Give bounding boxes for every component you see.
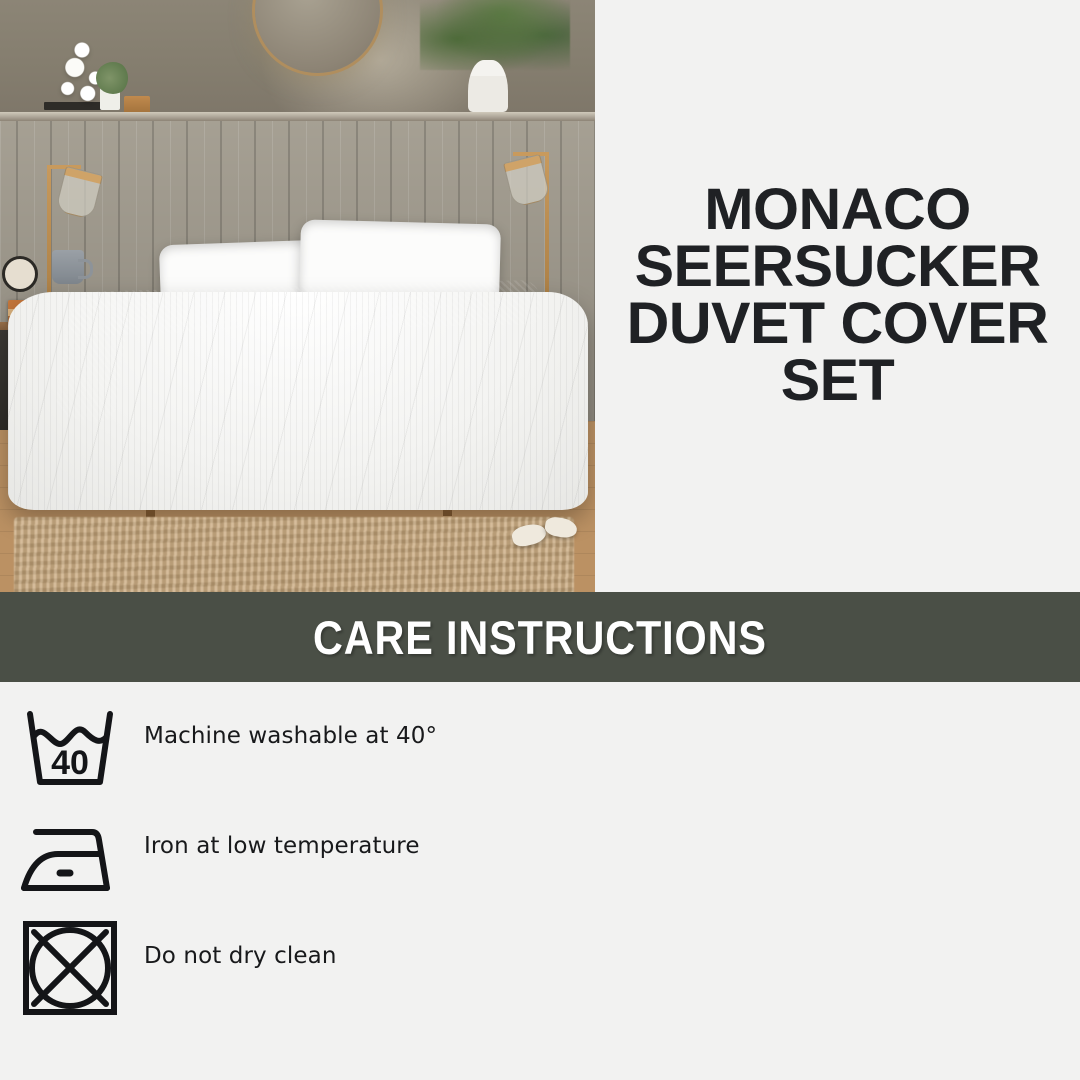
title-panel: MONACO SEERSUCKER DUVET COVER SET xyxy=(595,0,1080,592)
care-label-iron-low: Iron at low temperature xyxy=(144,810,420,861)
care-instructions-banner: CARE INSTRUCTIONS xyxy=(0,592,1080,682)
care-item-do-not-dry-clean: Do not dry clean xyxy=(0,920,545,1045)
wash-tub-40-icon: 40 xyxy=(18,700,122,796)
care-item-machine-wash: 40 Machine washable at 40° xyxy=(0,700,545,810)
coffee-mug xyxy=(52,250,84,284)
do-not-dry-clean-icon xyxy=(18,920,122,1016)
shag-rug xyxy=(14,517,574,592)
wash-temp-value: 40 xyxy=(51,744,89,782)
care-item-tumble-dry-low: Tumble dry at low temperature xyxy=(545,810,1080,920)
care-item-do-not-bleach: Do not bleach xyxy=(545,700,1080,810)
product-photo xyxy=(0,0,595,592)
care-instructions-grid: 40 Machine washable at 40° Do not bleach xyxy=(0,682,1080,1080)
small-green-plant xyxy=(96,62,130,94)
care-label-do-not-dry-clean: Do not dry clean xyxy=(144,920,337,971)
care-item-no-steam-ironing: Steam ironing may be a risk xyxy=(545,920,1080,1045)
iron-low-temperature-icon xyxy=(18,810,122,906)
care-item-iron-low: Iron at low temperature xyxy=(0,810,545,920)
care-label-machine-wash: Machine washable at 40° xyxy=(144,700,437,751)
care-instructions-heading: CARE INSTRUCTIONS xyxy=(313,610,767,665)
product-title: MONACO SEERSUCKER DUVET COVER SET xyxy=(590,182,1080,409)
white-vase xyxy=(468,60,508,112)
alarm-clock xyxy=(2,256,38,292)
hero-section: MONACO SEERSUCKER DUVET COVER SET xyxy=(0,0,1080,592)
fern-plant xyxy=(420,0,570,70)
infographic-page: MONACO SEERSUCKER DUVET COVER SET CARE I… xyxy=(0,0,1080,1080)
wainscot-rail xyxy=(0,112,595,121)
